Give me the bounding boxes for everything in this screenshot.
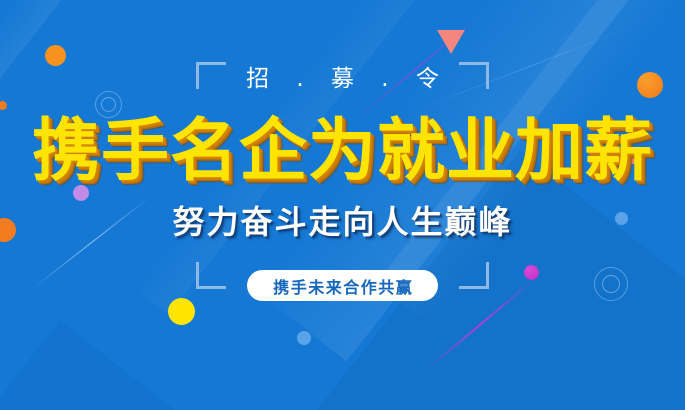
eyebrow-text: 招 . 募 . 令 (0, 68, 685, 91)
page-title: 携手名企为就业加薪 (0, 118, 685, 186)
yellow-circle-bottom-left (168, 298, 195, 325)
cta-button[interactable]: 携手未来合作共赢 (247, 270, 438, 301)
shade-band-bottom-left (0, 320, 296, 410)
ring-outer-right (594, 267, 628, 301)
ring-inner-left (101, 97, 116, 112)
bracket-bottom-left (196, 262, 226, 289)
bracket-bottom-right (459, 262, 489, 289)
orange-dot-left-edge (0, 101, 7, 110)
subtitle-text: 努力奋斗走向人生巅峰 (0, 206, 685, 238)
magenta-circle-right (524, 265, 539, 280)
streak-line-purple-bottom (427, 281, 531, 369)
ring-inner-right (602, 275, 620, 293)
pink-triangle-down-icon (437, 30, 465, 54)
light-blue-dot-bottom (297, 331, 311, 345)
orange-circle-top-left (45, 45, 66, 66)
recruitment-banner: 招 . 募 . 令 携手名企为就业加薪 努力奋斗走向人生巅峰 携手未来合作共赢 (0, 0, 685, 410)
